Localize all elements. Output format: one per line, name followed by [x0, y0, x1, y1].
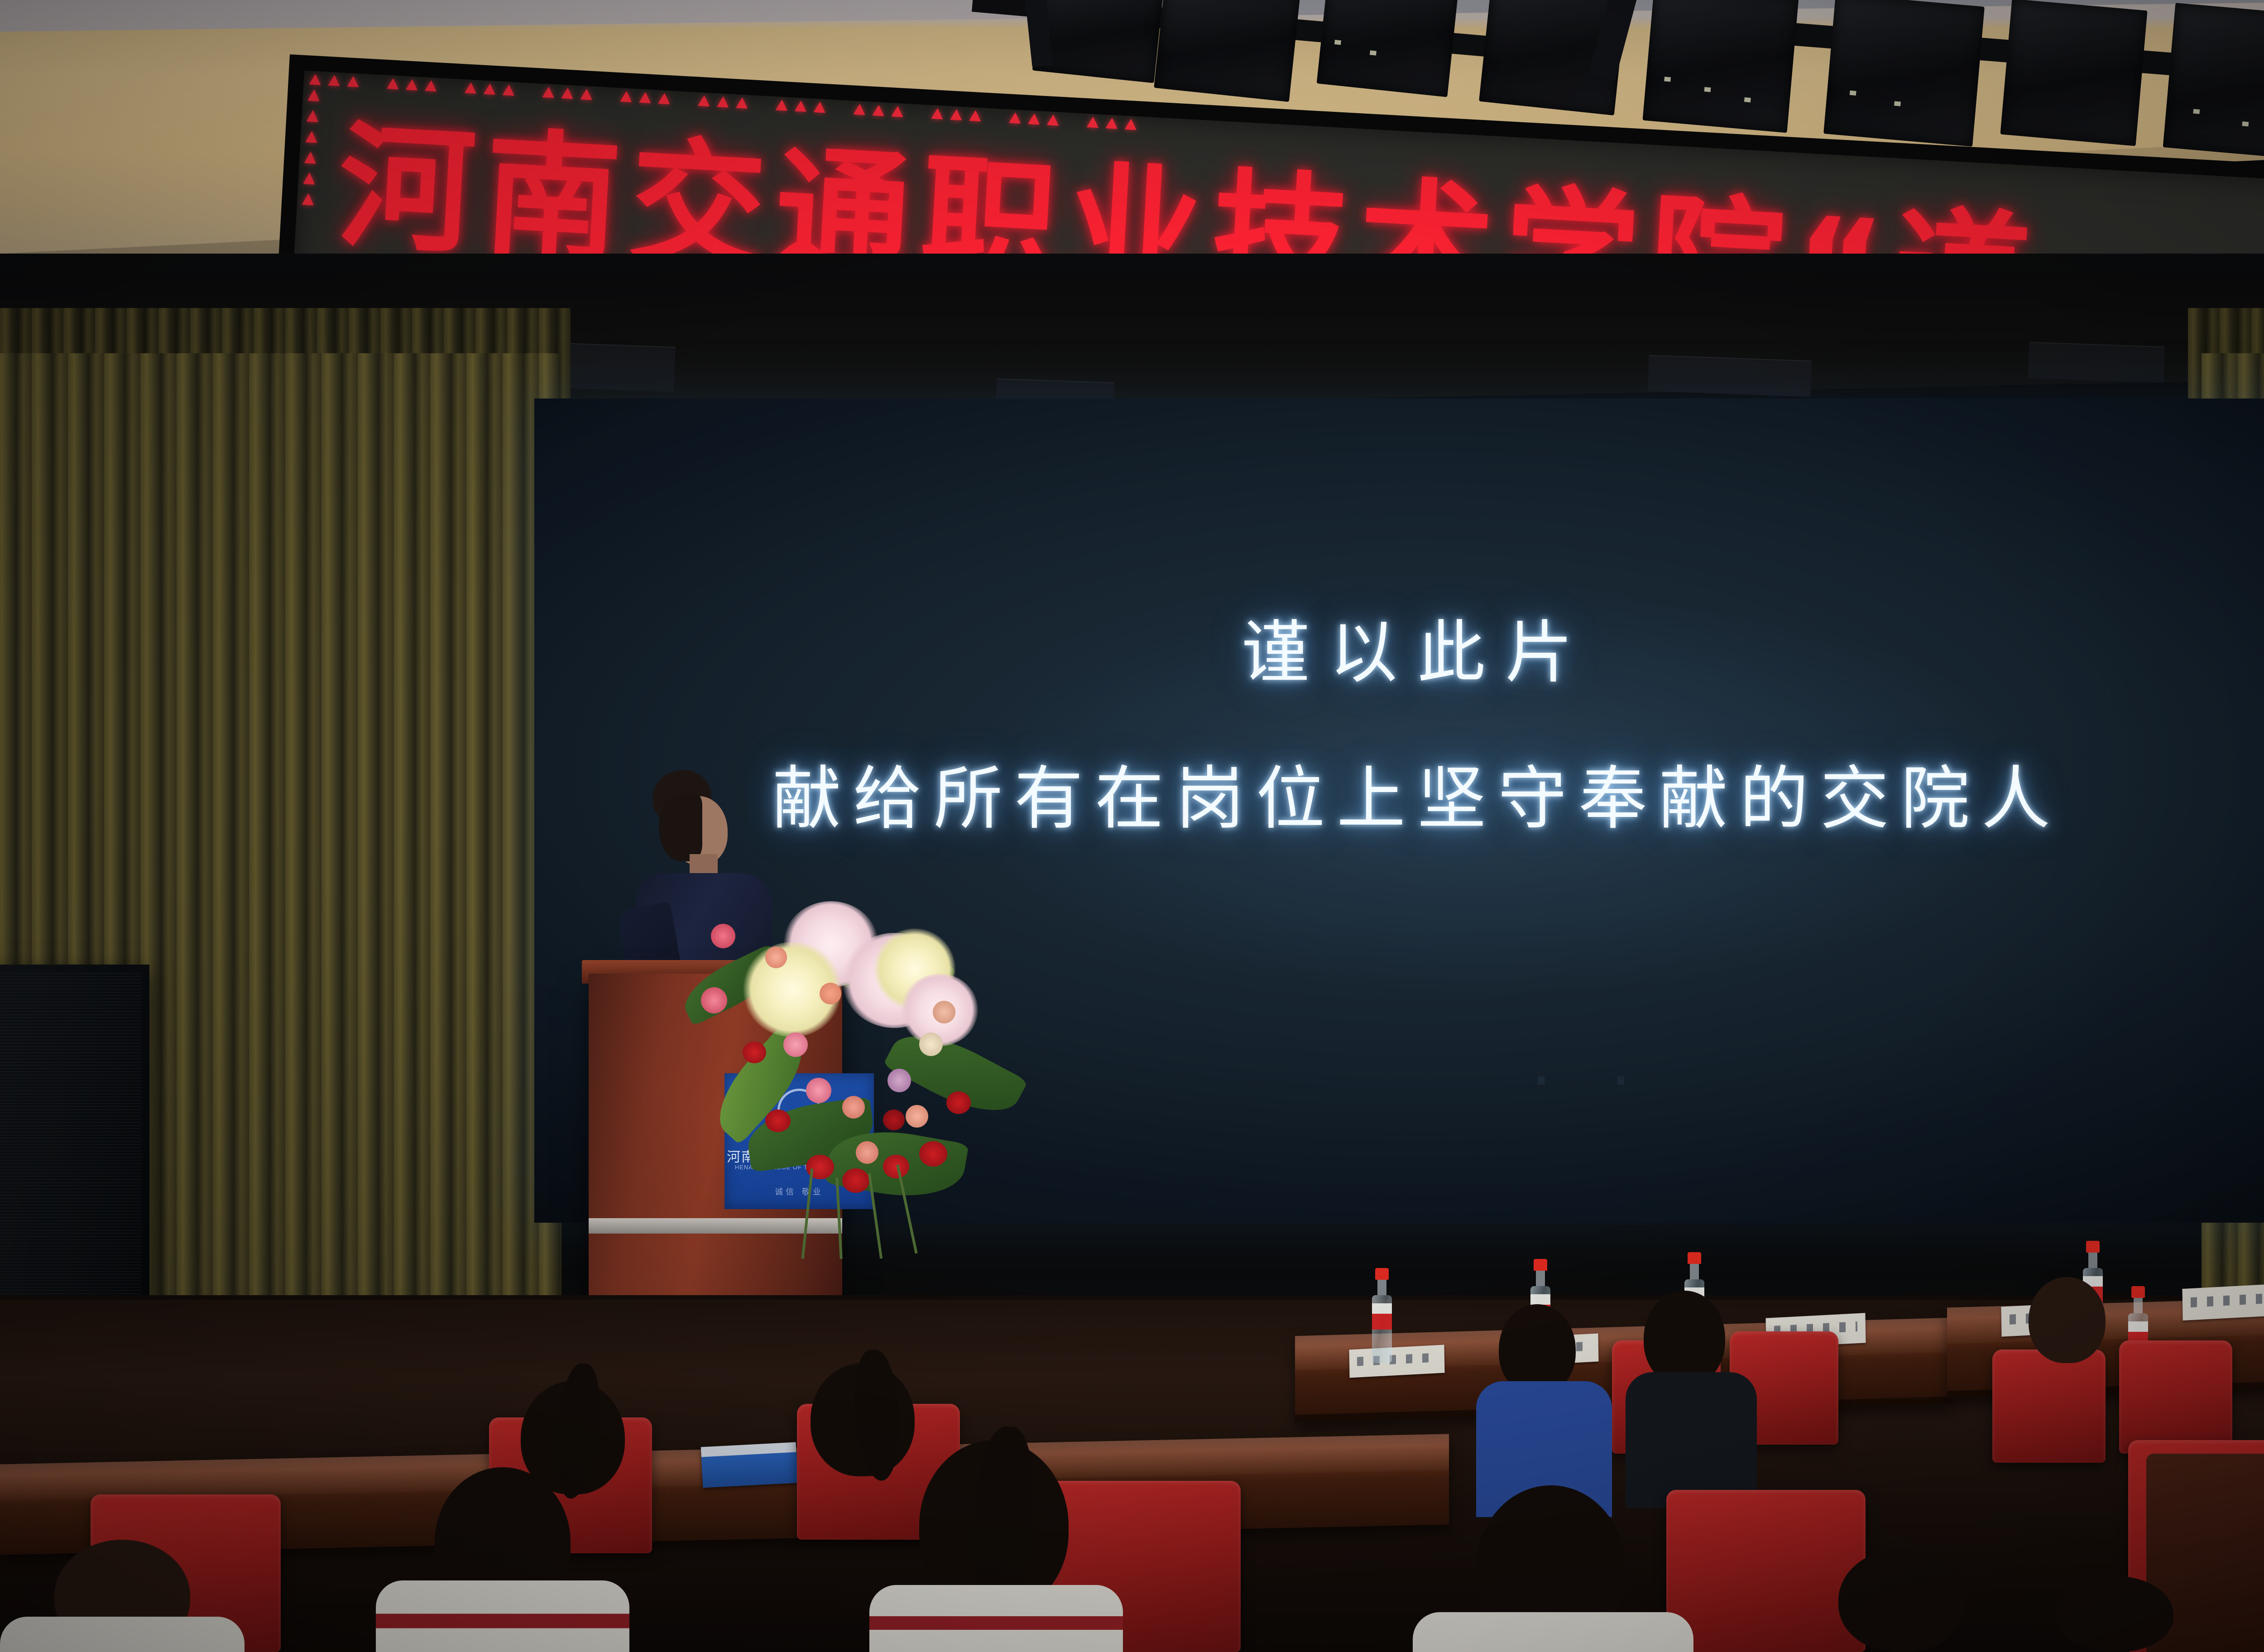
- triangle-marker: [580, 88, 593, 100]
- screen-text-line-1: 谨以此片: [534, 598, 2264, 696]
- bottle-neck: [2134, 1298, 2143, 1313]
- bottle-cap: [1375, 1268, 1389, 1280]
- triangle-marker: [1106, 117, 1118, 129]
- triangle-marker: [795, 100, 807, 111]
- flower-stem: [835, 1177, 842, 1259]
- stage-light-icon: [1823, 0, 1985, 147]
- carnation-bloom: [743, 1042, 766, 1063]
- overhead-light-bar: [2028, 342, 2165, 383]
- bottle-cap: [2131, 1286, 2145, 1298]
- triangle-marker: [1009, 112, 1021, 124]
- triangle-marker: [658, 93, 670, 104]
- triangle-marker: [561, 87, 574, 99]
- triangle-marker: [309, 73, 321, 85]
- bottle-neck: [1690, 1264, 1699, 1279]
- triangle-marker: [620, 91, 632, 102]
- audience-head: [2056, 1576, 2173, 1652]
- stage-light-icon: [1643, 0, 1799, 133]
- bottle-neck: [2088, 1253, 2097, 1268]
- bottle-neck: [1536, 1271, 1545, 1286]
- rose-bloom: [820, 983, 841, 1004]
- bottle-neck: [1377, 1280, 1386, 1295]
- triangle-marker: [814, 101, 826, 113]
- triangle-marker: [542, 86, 555, 98]
- audience-shoulders: [1626, 1372, 1757, 1508]
- program-handout-icon: [1349, 1345, 1444, 1378]
- rose-bloom: [842, 1096, 865, 1119]
- bottle-cap: [2086, 1241, 2100, 1253]
- triangle-marker: [484, 83, 496, 95]
- carnation-bloom: [919, 1141, 947, 1167]
- audience-shoulders: [869, 1585, 1123, 1652]
- rose-bloom: [783, 1032, 808, 1057]
- audience-shoulders: [376, 1580, 629, 1652]
- carnation-bloom: [765, 1109, 791, 1132]
- triangle-marker: [736, 97, 748, 108]
- carnation-bloom: [883, 1109, 905, 1130]
- stage-light-icon: [2163, 3, 2264, 160]
- carnation-bloom: [842, 1168, 869, 1193]
- rose-bloom: [701, 987, 727, 1013]
- rose-bloom: [765, 946, 787, 968]
- triangle-marker: [873, 105, 885, 116]
- stage-light-icon: [1032, 0, 1164, 83]
- triangle-marker: [347, 76, 359, 87]
- triangle-marker: [1028, 113, 1040, 125]
- audience-head: [1838, 1549, 1965, 1652]
- triangle-marker: [854, 104, 866, 115]
- handout-print: [1357, 1353, 1437, 1366]
- audience-shoulders: [0, 1617, 245, 1652]
- rose-bloom: [711, 924, 735, 948]
- triangle-marker: [950, 109, 962, 120]
- flower-arrangement: [693, 897, 1019, 1259]
- presenter-hair: [659, 793, 702, 861]
- rose-bloom: [906, 1105, 928, 1128]
- audience-seat[interactable]: [1992, 1349, 2106, 1463]
- triangle-marker: [425, 80, 437, 91]
- handout-print: [2191, 1293, 2264, 1307]
- bottle-label: [1372, 1303, 1392, 1330]
- triangle-marker: [776, 99, 788, 110]
- triangle-marker: [465, 82, 477, 93]
- stage-light-icon: [2000, 0, 2147, 146]
- audience-head: [2029, 1277, 2106, 1363]
- audience-head: [1644, 1291, 1725, 1386]
- triangle-marker: [387, 78, 399, 89]
- triangle-marker: [969, 110, 981, 121]
- screen-text-line-2: 献给所有在岗位上坚守奉献的交院人: [534, 743, 2264, 842]
- triangle-marker: [503, 84, 515, 96]
- carnation-bloom: [946, 1091, 971, 1114]
- overhead-light-bar: [1648, 355, 1812, 397]
- triangle-marker: [406, 79, 418, 90]
- triangle-marker: [303, 172, 315, 184]
- triangle-marker: [328, 75, 340, 86]
- program-handout-icon: [2182, 1283, 2264, 1321]
- water-bottle-icon[interactable]: [1372, 1268, 1392, 1363]
- triangle-marker: [931, 108, 943, 119]
- stage-light-icon: [1154, 0, 1300, 102]
- audience-seat[interactable]: [2119, 1340, 2232, 1454]
- auditorium-scene: 河南交通职业技术学院“道 · · 谨以: [0, 0, 2264, 1652]
- triangle-marker: [304, 151, 317, 163]
- screen-ghost-text: · ·: [1530, 1042, 1650, 1120]
- triangle-marker: [639, 92, 651, 103]
- triangle-marker: [717, 96, 729, 107]
- triangle-marker: [1125, 119, 1137, 130]
- blue-notebook[interactable]: [701, 1442, 798, 1488]
- triangle-marker: [307, 89, 320, 101]
- audience-seat[interactable]: [1666, 1490, 1866, 1652]
- triangle-marker: [1087, 116, 1099, 128]
- rose-bloom: [887, 1069, 911, 1092]
- bottle-cap: [1688, 1252, 1701, 1264]
- stage-light-icon: [1317, 0, 1459, 97]
- bottle-cap: [1534, 1259, 1547, 1271]
- triangle-marker: [305, 130, 317, 143]
- stage-light-icon: [1479, 0, 1627, 115]
- rose-bloom: [806, 1078, 831, 1103]
- triangle-marker: [307, 110, 319, 122]
- flower-stem: [801, 1168, 814, 1259]
- rose-bloom: [933, 1001, 955, 1023]
- triangle-marker: [302, 193, 314, 205]
- triangle-marker: [1047, 114, 1059, 125]
- triangle-marker: [698, 95, 710, 106]
- audience-shoulders: [1413, 1612, 1693, 1652]
- rose-bloom: [856, 1141, 878, 1164]
- rose-bloom: [919, 1032, 943, 1056]
- triangle-marker: [891, 106, 903, 117]
